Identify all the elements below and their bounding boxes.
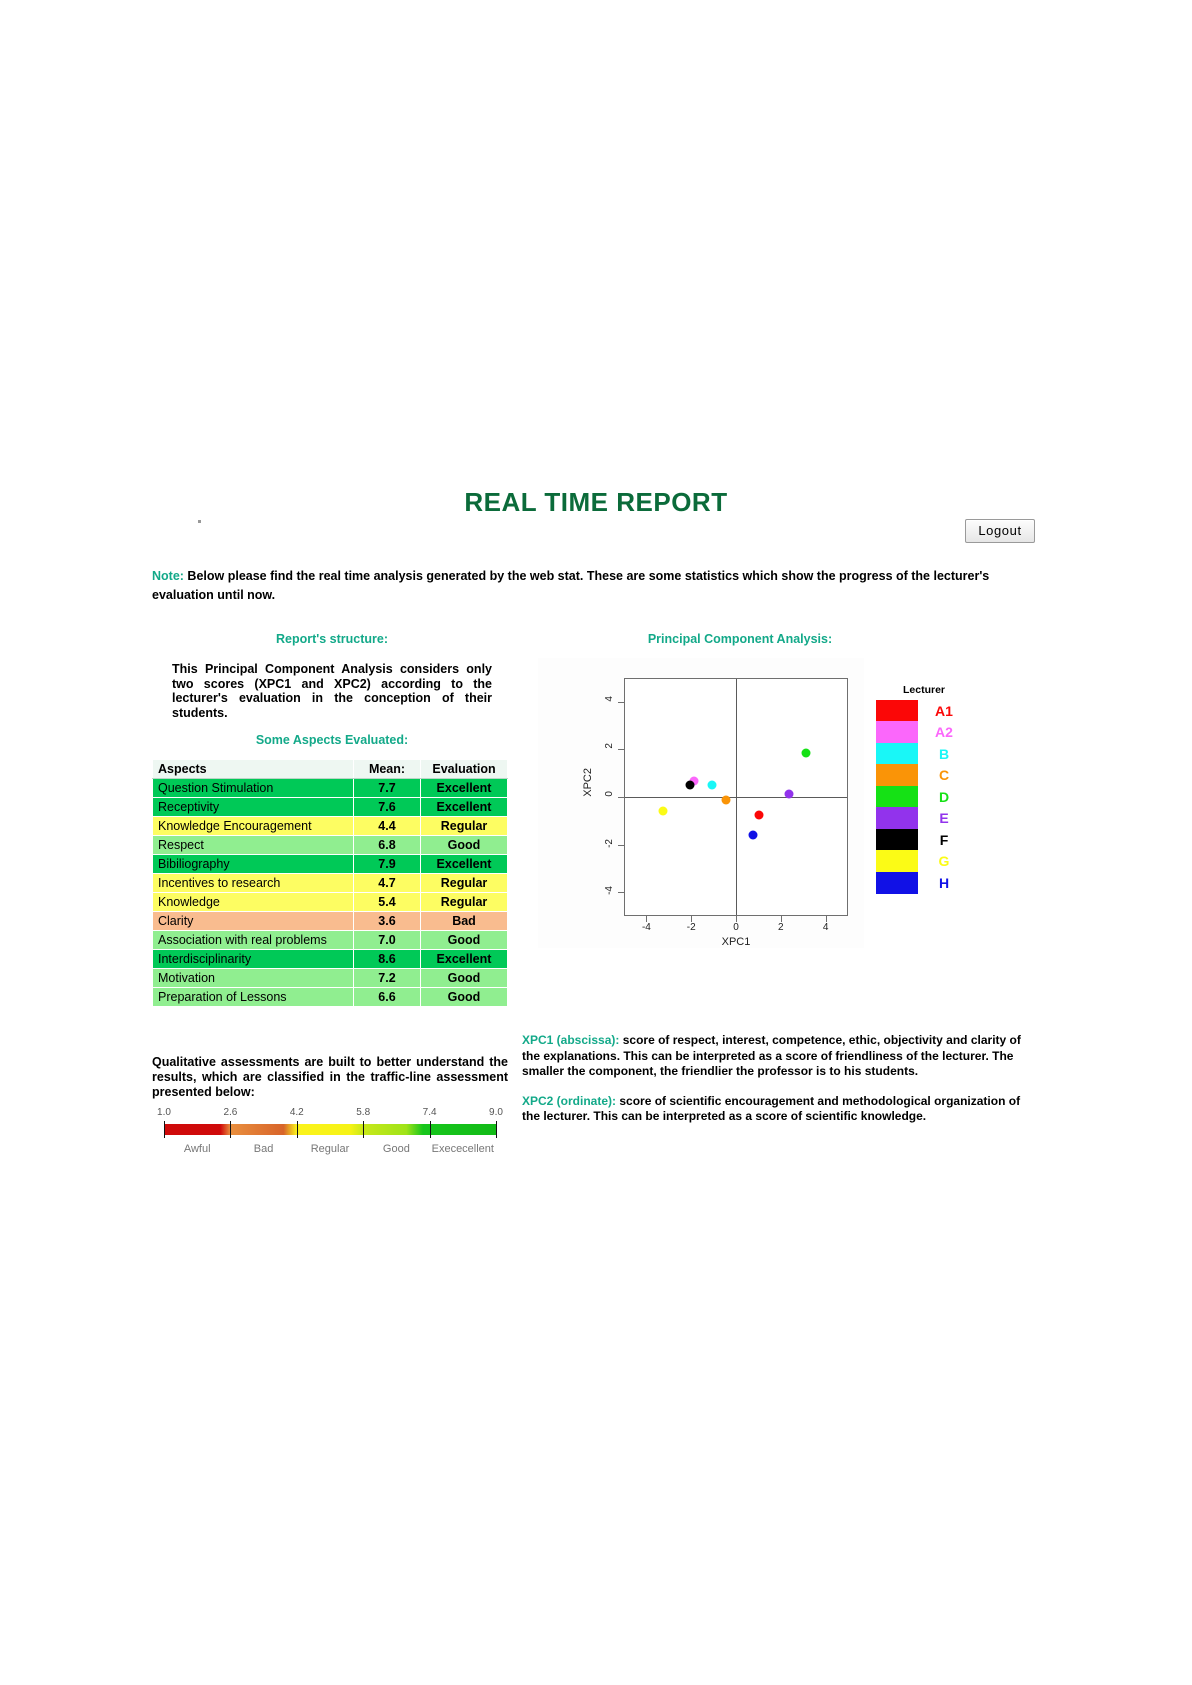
note-banner: Note: Below please find the real time an… — [152, 567, 1018, 605]
logout-button[interactable]: Logout — [965, 519, 1035, 543]
cell-mean: 7.2 — [354, 969, 421, 988]
pca-y-tick-mark — [618, 797, 624, 798]
traffic-tick-mark — [230, 1121, 231, 1138]
cell-mean: 3.6 — [354, 912, 421, 931]
cell-evaluation: Good — [421, 836, 508, 855]
cell-mean: 7.9 — [354, 855, 421, 874]
traffic-tick-label: 1.0 — [157, 1107, 171, 1118]
legend-row-e: E — [876, 808, 972, 830]
traffic-tick-mark — [430, 1121, 431, 1138]
cell-mean: 7.0 — [354, 931, 421, 950]
pca-x-tick-label: 0 — [733, 922, 739, 933]
report-page: REAL TIME REPORT Logout Note: Below plea… — [0, 0, 1192, 1685]
pca-legend-title: Lecturer — [876, 684, 972, 696]
cell-aspect: Interdisciplinarity — [153, 950, 354, 969]
report-structure-heading: Report's structure: — [152, 632, 512, 646]
cell-mean: 8.6 — [354, 950, 421, 969]
pca-point-c — [721, 796, 730, 805]
aspects-table: Aspects Mean: Evaluation Question Stimul… — [152, 759, 508, 1007]
pca-point-e — [784, 790, 793, 799]
cell-evaluation: Bad — [421, 912, 508, 931]
traffic-tick-mark — [297, 1121, 298, 1138]
cell-mean: 6.6 — [354, 988, 421, 1007]
pca-x-tick-label: 2 — [778, 922, 784, 933]
legend-row-c: C — [876, 765, 972, 787]
pca-x-axis-label: XPC1 — [624, 936, 848, 948]
pca-x-tick-label: -2 — [687, 922, 696, 933]
cell-evaluation: Regular — [421, 817, 508, 836]
legend-swatch-g — [876, 850, 918, 872]
legend-row-d: D — [876, 786, 972, 808]
table-row: Question Stimulation7.7Excellent — [153, 779, 508, 798]
xpc-descriptions: XPC1 (abscissa): score of respect, inter… — [522, 1033, 1022, 1139]
cell-evaluation: Excellent — [421, 798, 508, 817]
pca-y-tick-mark — [618, 702, 624, 703]
pca-x-tick-mark — [781, 916, 782, 922]
pca-point-a1 — [755, 810, 764, 819]
legend-swatch-d — [876, 786, 918, 808]
cell-mean: 5.4 — [354, 893, 421, 912]
cell-aspect: Motivation — [153, 969, 354, 988]
legend-label: C — [918, 767, 970, 783]
xpc-description: XPC2 (ordinate): score of scientific enc… — [522, 1094, 1022, 1125]
traffic-band-label: Bad — [254, 1143, 274, 1155]
cell-evaluation: Excellent — [421, 855, 508, 874]
pca-x-tick-label: -4 — [642, 922, 651, 933]
pca-x-tick-label: 4 — [823, 922, 829, 933]
legend-label: A2 — [918, 724, 970, 740]
pca-horizontal-axis — [625, 797, 847, 798]
legend-swatch-a2 — [876, 721, 918, 743]
legend-label: H — [918, 875, 970, 891]
table-row: Bibiliography7.9Excellent — [153, 855, 508, 874]
pca-plot-frame — [624, 678, 848, 916]
legend-label: D — [918, 789, 970, 805]
legend-swatch-h — [876, 872, 918, 894]
traffic-tick-label: 2.6 — [223, 1107, 237, 1118]
cell-evaluation: Good — [421, 988, 508, 1007]
cell-evaluation: Regular — [421, 874, 508, 893]
cell-aspect: Clarity — [153, 912, 354, 931]
pca-y-tick-label: -4 — [604, 886, 615, 895]
aspects-evaluated-heading: Some Aspects Evaluated: — [152, 733, 512, 747]
table-row: Receptivity7.6Excellent — [153, 798, 508, 817]
pca-x-tick-mark — [826, 916, 827, 922]
cell-aspect: Bibiliography — [153, 855, 354, 874]
legend-row-a1: A1 — [876, 700, 972, 722]
cell-aspect: Association with real problems — [153, 931, 354, 950]
pca-scatter-plot: XPC2 XPC1 -4-2024-4-2024 — [538, 658, 864, 948]
legend-row-b: B — [876, 743, 972, 765]
legend-swatch-c — [876, 764, 918, 786]
report-structure-text: This Principal Component Analysis consid… — [172, 662, 492, 720]
traffic-tick-mark — [164, 1121, 165, 1138]
legend-row-f: F — [876, 829, 972, 851]
cell-evaluation: Good — [421, 931, 508, 950]
pca-y-tick-mark — [618, 892, 624, 893]
traffic-tick-labels: 1.02.64.25.87.49.0 — [152, 1107, 508, 1121]
column-header-evaluation: Evaluation — [421, 760, 508, 779]
pca-y-axis-label: XPC2 — [582, 768, 594, 797]
table-row: Association with real problems7.0Good — [153, 931, 508, 950]
pca-x-tick-mark — [646, 916, 647, 922]
note-label: Note: — [152, 569, 184, 583]
pca-point-f — [685, 780, 694, 789]
traffic-band-label: Good — [383, 1143, 410, 1155]
xpc-key: XPC1 (abscissa): — [522, 1033, 619, 1047]
pca-point-h — [748, 830, 757, 839]
pca-y-tick-label: 4 — [604, 696, 615, 702]
cell-aspect: Receptivity — [153, 798, 354, 817]
cell-aspect: Preparation of Lessons — [153, 988, 354, 1007]
pca-point-b — [708, 780, 717, 789]
pca-y-tick-label: 0 — [604, 791, 615, 797]
traffic-tick-mark — [363, 1121, 364, 1138]
traffic-gradient-bar — [164, 1124, 496, 1135]
pca-x-tick-mark — [691, 916, 692, 922]
cell-aspect: Incentives to research — [153, 874, 354, 893]
cell-evaluation: Excellent — [421, 950, 508, 969]
pca-y-tick-label: 2 — [604, 743, 615, 749]
legend-row-g: G — [876, 851, 972, 873]
cell-aspect: Respect — [153, 836, 354, 855]
legend-label: A1 — [918, 703, 970, 719]
legend-label: G — [918, 853, 970, 869]
column-header-aspects: Aspects — [153, 760, 354, 779]
legend-label: B — [918, 746, 970, 762]
qualitative-assessment-text: Qualitative assessments are built to bet… — [152, 1055, 508, 1100]
page-title: REAL TIME REPORT — [0, 487, 1192, 518]
pca-x-tick-mark — [736, 916, 737, 922]
xpc-key: XPC2 (ordinate): — [522, 1094, 616, 1108]
cell-evaluation: Regular — [421, 893, 508, 912]
legend-row-h: H — [876, 872, 972, 894]
traffic-tick-label: 9.0 — [489, 1107, 503, 1118]
traffic-tick-label: 4.2 — [290, 1107, 304, 1118]
legend-label: E — [918, 810, 970, 826]
xpc-description: XPC1 (abscissa): score of respect, inter… — [522, 1033, 1022, 1080]
traffic-line-scale: 1.02.64.25.87.49.0 AwfulBadRegularGoodEx… — [152, 1107, 508, 1167]
pca-point-g — [659, 807, 668, 816]
traffic-band-labels: AwfulBadRegularGoodExececellent — [152, 1143, 508, 1159]
table-row: Respect6.8Good — [153, 836, 508, 855]
legend-swatch-b — [876, 743, 918, 765]
cell-aspect: Question Stimulation — [153, 779, 354, 798]
traffic-tick-label: 7.4 — [423, 1107, 437, 1118]
traffic-tick-mark — [496, 1121, 497, 1138]
table-row: Incentives to research4.7Regular — [153, 874, 508, 893]
legend-swatch-f — [876, 829, 918, 851]
cell-mean: 6.8 — [354, 836, 421, 855]
cell-mean: 7.6 — [354, 798, 421, 817]
legend-swatch-a1 — [876, 700, 918, 722]
cell-mean: 7.7 — [354, 779, 421, 798]
table-row: Knowledge5.4Regular — [153, 893, 508, 912]
pca-legend: Lecturer A1A2BCDEFGH — [876, 684, 972, 894]
table-row: Clarity3.6Bad — [153, 912, 508, 931]
legend-swatch-e — [876, 807, 918, 829]
pca-heading: Principal Component Analysis: — [540, 632, 940, 646]
table-row: Motivation7.2Good — [153, 969, 508, 988]
pca-y-tick-label: -2 — [604, 839, 615, 848]
pca-y-tick-mark — [618, 749, 624, 750]
cell-aspect: Knowledge — [153, 893, 354, 912]
pca-y-tick-mark — [618, 845, 624, 846]
cell-aspect: Knowledge Encouragement — [153, 817, 354, 836]
traffic-band-label: Regular — [311, 1143, 350, 1155]
column-header-mean: Mean: — [354, 760, 421, 779]
stray-mark — [198, 520, 201, 523]
legend-row-a2: A2 — [876, 722, 972, 744]
cell-mean: 4.7 — [354, 874, 421, 893]
cell-evaluation: Excellent — [421, 779, 508, 798]
legend-label: F — [918, 832, 970, 848]
cell-evaluation: Good — [421, 969, 508, 988]
cell-mean: 4.4 — [354, 817, 421, 836]
table-row: Knowledge Encouragement4.4Regular — [153, 817, 508, 836]
traffic-tick-label: 5.8 — [356, 1107, 370, 1118]
note-text: Below please find the real time analysis… — [152, 569, 989, 602]
traffic-band-label: Exececellent — [432, 1143, 494, 1155]
traffic-band-label: Awful — [184, 1143, 211, 1155]
table-row: Interdisciplinarity8.6Excellent — [153, 950, 508, 969]
table-header-row: Aspects Mean: Evaluation — [153, 760, 508, 779]
table-row: Preparation of Lessons6.6Good — [153, 988, 508, 1007]
pca-point-d — [802, 748, 811, 757]
